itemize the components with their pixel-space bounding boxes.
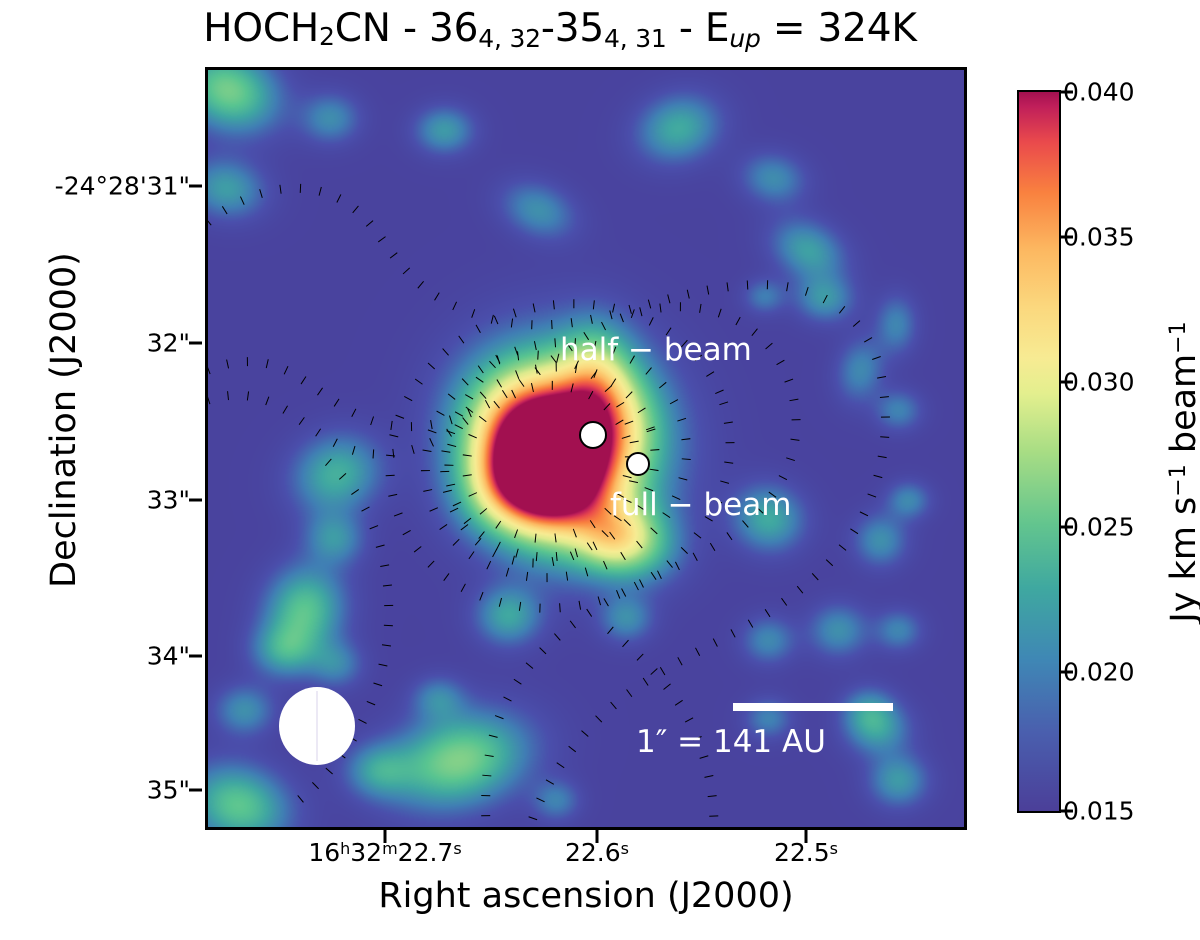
colorbar-tick-mark-2 bbox=[1061, 381, 1073, 384]
y-tick-mark-4 bbox=[189, 789, 202, 792]
title-lower-quantum-numbers: 4, 31 bbox=[604, 24, 667, 53]
colorbar-tick-label-2: 0.030 bbox=[1063, 368, 1135, 397]
title-molecule: HOCH bbox=[203, 6, 319, 51]
colorbar-tick-mark-4 bbox=[1061, 671, 1073, 674]
colorbar-tick-mark-3 bbox=[1061, 526, 1073, 529]
y-tick-label-0: -24°28'31" bbox=[0, 172, 190, 201]
map-axes bbox=[205, 67, 967, 830]
contour-level-1 bbox=[350, 260, 770, 652]
source-marker-B bbox=[627, 453, 649, 475]
map-overlay bbox=[208, 70, 964, 827]
title-dash-2: - E bbox=[667, 6, 730, 51]
title-lower-level: -35 bbox=[541, 6, 604, 51]
colorbar-tick-label-3: 0.025 bbox=[1063, 513, 1135, 542]
x-tick-mark-2 bbox=[805, 830, 808, 843]
title-subscript-2: 2 bbox=[319, 22, 335, 51]
contour-branch bbox=[208, 395, 474, 454]
y-tick-label-2: 33" bbox=[0, 486, 190, 515]
colorbar-label-exp-1: −1 bbox=[1166, 464, 1191, 496]
colorbar-tick-mark-1 bbox=[1061, 236, 1073, 239]
title-dash-1: - bbox=[391, 6, 429, 51]
title-upper-quantum-numbers: 4, 32 bbox=[478, 24, 541, 53]
colorbar-tick-label-0: 0.040 bbox=[1063, 78, 1135, 107]
half-beam-label: half − beam bbox=[560, 332, 752, 368]
y-tick-label-4: 35" bbox=[0, 776, 190, 805]
colorbar-tick-mark-0 bbox=[1061, 91, 1073, 94]
colorbar-label: Jy km s−1 beam−1 bbox=[1164, 232, 1200, 712]
colorbar-tick-label-1: 0.035 bbox=[1063, 223, 1135, 252]
colorbar-label-mid: beam bbox=[1164, 354, 1200, 464]
y-tick-label-3: 34" bbox=[0, 642, 190, 671]
contour-level-4 bbox=[447, 364, 650, 559]
colorbar-tick-mark-5 bbox=[1061, 810, 1073, 813]
y-tick-mark-0 bbox=[189, 185, 202, 188]
source-marker-A bbox=[580, 422, 606, 448]
title-energy-value: = 324K bbox=[761, 6, 917, 51]
x-tick-mark-1 bbox=[596, 830, 599, 843]
x-axis-label: Right ascension (J2000) bbox=[205, 876, 967, 916]
colorbar-tick-label-4: 0.020 bbox=[1063, 658, 1135, 687]
colorbar-tick-label-5: 0.015 bbox=[1063, 797, 1135, 826]
scale-bar bbox=[733, 703, 893, 711]
y-tick-label-1: 32" bbox=[0, 329, 190, 358]
y-tick-mark-3 bbox=[189, 655, 202, 658]
page-title: HOCH2CN - 364, 32-354, 31 - Eup = 324K bbox=[0, 6, 1120, 53]
title-eup-subscript: up bbox=[729, 24, 760, 53]
y-tick-mark-2 bbox=[189, 499, 202, 502]
y-axis-label: Declination (J2000) bbox=[44, 160, 84, 680]
contour-level-5 bbox=[445, 355, 636, 563]
colorbar-label-exp-2: −1 bbox=[1166, 321, 1191, 353]
full-beam-label: full − beam bbox=[610, 487, 791, 523]
x-tick-mark-0 bbox=[384, 830, 387, 843]
title-molecule-tail: CN bbox=[335, 6, 391, 51]
scale-bar-label: 1″ = 141 AU bbox=[636, 724, 826, 760]
figure-root: HOCH2CN - 364, 32-354, 31 - Eup = 324K -… bbox=[0, 0, 1200, 940]
colorbar-label-main: Jy km s bbox=[1164, 497, 1200, 623]
map-canvas-wrap bbox=[208, 70, 964, 827]
y-tick-mark-1 bbox=[189, 342, 202, 345]
colorbar bbox=[1017, 90, 1061, 813]
title-upper-level: 36 bbox=[429, 6, 478, 51]
